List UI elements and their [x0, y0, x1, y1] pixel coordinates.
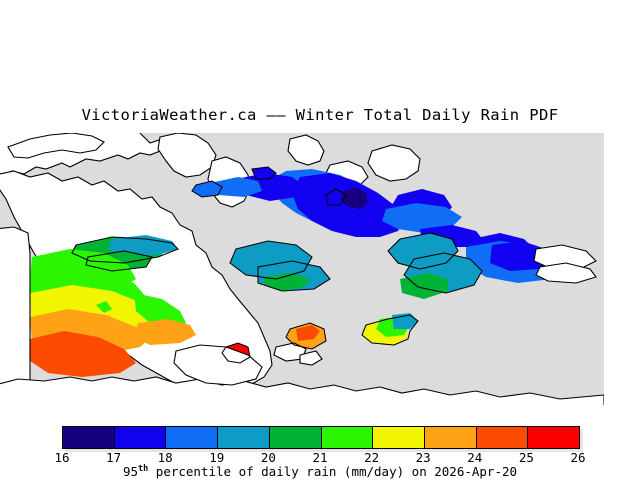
colorbar-tick-20: 20 — [261, 450, 276, 465]
colorbar-tick-23: 23 — [416, 450, 431, 465]
colorbar-segment-25-26 — [528, 427, 579, 448]
colorbar-tick-17: 17 — [106, 450, 121, 465]
land-sw-nodata — [0, 227, 30, 389]
weather-map-page: VictoriaWeather.ca —— Winter Total Daily… — [0, 0, 640, 480]
colorbar-segment-24-25 — [477, 427, 529, 448]
colorbar-tick-19: 19 — [209, 450, 224, 465]
caption-superscript: th — [138, 464, 148, 474]
colorbar-tick-26: 26 — [570, 450, 585, 465]
colorbar-segment-21-22 — [322, 427, 374, 448]
colorbar-tick-16: 16 — [54, 450, 69, 465]
colorbar-segment-19-20 — [218, 427, 270, 448]
colorbar-panel: 1617181920212223242526 95th percentile o… — [0, 424, 640, 480]
colorbar — [62, 426, 580, 449]
colorbar-segment-17-18 — [115, 427, 167, 448]
page-title: VictoriaWeather.ca —— Winter Total Daily… — [0, 106, 640, 124]
map-canvas — [0, 133, 604, 405]
colorbar-segment-22-23 — [373, 427, 425, 448]
colorbar-tick-25: 25 — [519, 450, 534, 465]
colorbar-segment-23-24 — [425, 427, 477, 448]
colorbar-segment-18-19 — [166, 427, 218, 448]
colorbar-tick-22: 22 — [364, 450, 379, 465]
colorbar-tick-labels: 1617181920212223242526 — [0, 450, 640, 464]
colorbar-tick-18: 18 — [158, 450, 173, 465]
colorbar-segment-16-17 — [63, 427, 115, 448]
map-panel — [0, 133, 604, 405]
colorbar-caption: 95th percentile of daily rain (mm/day) o… — [0, 464, 640, 479]
colorbar-tick-24: 24 — [467, 450, 482, 465]
colorbar-tick-21: 21 — [312, 450, 327, 465]
colorbar-segment-20-21 — [270, 427, 322, 448]
